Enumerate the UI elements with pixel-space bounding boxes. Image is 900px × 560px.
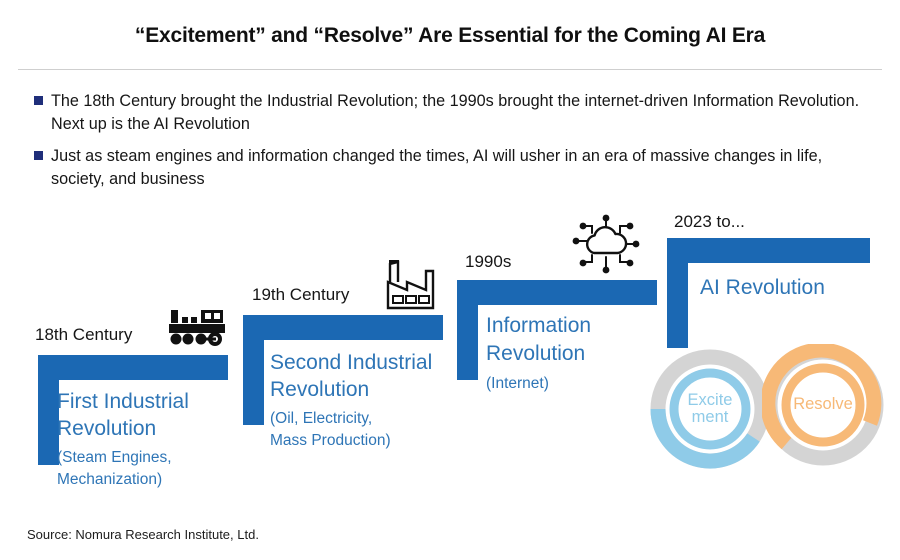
resolve-donut-label: Resolve [762, 344, 884, 466]
bullet-text-1: The 18th Century brought the Industrial … [51, 92, 859, 133]
step-3-era-label: 1990s [465, 252, 511, 272]
staircase-step-2 [243, 315, 443, 425]
step-2-sub-line1: (Oil, Electricity, [270, 409, 372, 429]
locomotive-icon [168, 308, 228, 350]
step-1-title-line2: Revolution [57, 416, 156, 442]
step-4-top-bar [667, 238, 870, 263]
source-note: Source: Nomura Research Institute, Ltd. [27, 527, 259, 542]
step-2-title-line1: Second Industrial [270, 350, 432, 376]
bullet-item-2: Just as steam engines and information ch… [34, 145, 874, 191]
step-3-top-bar [457, 280, 657, 305]
step-1-top-bar [38, 355, 228, 380]
staircase-diagram: 18th Century First Industrial Revolution… [0, 0, 900, 560]
title-divider [18, 69, 882, 70]
excitement-donut-label: Excite ment [650, 349, 770, 469]
step-1-sub-line2: Mechanization) [57, 470, 162, 490]
step-1-side-bar [38, 355, 59, 465]
step-4-side-bar [667, 238, 688, 348]
resolve-label-line1: Resolve [793, 396, 853, 413]
step-1-sub-line1: (Steam Engines, [57, 448, 172, 468]
step-2-side-bar [243, 315, 264, 425]
excitement-donut: Excite ment [650, 349, 770, 469]
step-3-title-line2: Revolution [486, 341, 585, 367]
step-2-era-label: 19th Century [252, 285, 349, 305]
step-2-title-line2: Revolution [270, 377, 369, 403]
excitement-label-line1: Excite [688, 392, 733, 409]
step-1-title-line1: First Industrial [57, 389, 189, 415]
step-1-era-label: 18th Century [35, 325, 132, 345]
step-3-side-bar [457, 280, 478, 380]
step-3-sub-line1: (Internet) [486, 374, 549, 394]
step-2-sub-line2: Mass Production) [270, 431, 391, 451]
bullet-item-1: The 18th Century brought the Industrial … [34, 90, 874, 136]
staircase-step-4 [667, 238, 870, 348]
factory-icon [381, 258, 439, 310]
resolve-donut: Resolve [762, 344, 884, 466]
step-2-top-bar [243, 315, 443, 340]
staircase-step-3 [457, 280, 657, 380]
square-bullet-icon [34, 151, 43, 160]
cloud-network-icon [570, 213, 642, 275]
bullet-text-2: Just as steam engines and information ch… [51, 147, 822, 188]
bullet-list: The 18th Century brought the Industrial … [34, 90, 874, 200]
staircase-step-1 [38, 355, 228, 465]
square-bullet-icon [34, 96, 43, 105]
step-3-title-line1: Information [486, 313, 591, 339]
page-title: “Excitement” and “Resolve” Are Essential… [0, 24, 900, 48]
step-4-title-line1: AI Revolution [700, 275, 825, 301]
step-4-era-label: 2023 to... [674, 212, 745, 232]
excitement-label-line2: ment [692, 409, 729, 426]
